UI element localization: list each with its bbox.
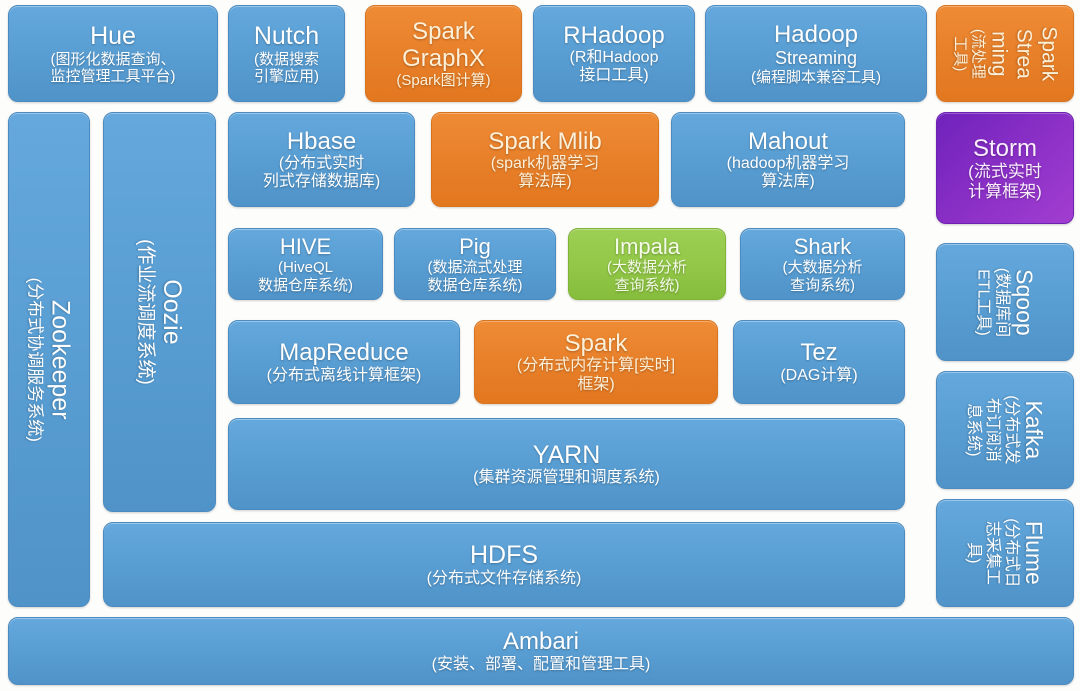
component-title: Spark: [565, 330, 628, 357]
component-desc-line: 监控管理工具平台): [51, 68, 176, 85]
component-desc-line: (流式实时: [968, 162, 1042, 181]
component-title: Mahout: [748, 128, 828, 155]
component-desc-line: (作业流调度系统): [134, 239, 156, 385]
component-desc-line: (流处理: [968, 29, 986, 79]
component-desc-line: (分布式文件存储系统): [427, 570, 582, 588]
component-title: Zookeeper: [44, 300, 74, 420]
component-title: YARN: [533, 441, 601, 470]
component-desc-line: 工具): [950, 36, 968, 71]
component-title: Shark: [794, 234, 851, 259]
component-title: RHadoop: [563, 22, 664, 49]
component-title: Streaming: [775, 48, 857, 69]
component-box-yarn[interactable]: YARN (集群资源管理和调度系统): [228, 418, 905, 510]
component-desc-line: (spark机器学习: [491, 155, 599, 173]
component-box-hdfs[interactable]: HDFS (分布式文件存储系统): [103, 522, 905, 607]
component-title: Spark Mlib: [488, 128, 601, 155]
component-box-kafka[interactable]: Kafka (分布式发 布订阅消 息系统): [936, 371, 1074, 489]
component-desc-line: 引擎应用): [254, 68, 319, 85]
component-box-spark-streaming[interactable]: Spark Strea ming (流处理 工具): [936, 5, 1074, 102]
component-title: HIVE: [280, 234, 331, 259]
component-box-mahout[interactable]: Mahout (hadoop机器学习 算法库): [671, 112, 905, 207]
component-desc-line: 列式存储数据库): [263, 173, 380, 191]
hadoop-ecosystem-diagram: Hue (图形化数据查询、 监控管理工具平台) Nutch (数据搜索 引擎应用…: [0, 0, 1080, 691]
component-title: Kafka: [1020, 401, 1047, 460]
component-desc-line: (分布式日: [1001, 518, 1020, 587]
component-box-spark[interactable]: Spark (分布式内存计算[实时] 框架): [474, 320, 718, 404]
component-desc-line: 查询系统): [790, 277, 855, 294]
component-title: Hadoop: [774, 21, 858, 48]
component-desc-line: (分布式实时: [279, 155, 364, 173]
rotated-label-group: Sqoop (数据库间 ETL工具): [973, 243, 1038, 361]
component-desc-line: (分布式离线计算框架): [267, 367, 422, 385]
component-title: Spark: [1035, 26, 1060, 81]
component-title: GraphX: [402, 45, 485, 72]
component-desc-line: (大数据分析: [607, 259, 687, 276]
component-desc-line: (分布式发: [1001, 395, 1020, 464]
component-title: MapReduce: [279, 339, 408, 366]
component-desc-line: 数据仓库系统): [258, 277, 353, 294]
component-desc-line: (集群资源管理和调度系统): [473, 469, 660, 487]
component-box-ambari[interactable]: Ambari (安装、部署、配置和管理工具): [8, 617, 1074, 685]
component-desc-line: (安装、部署、配置和管理工具): [432, 656, 651, 674]
component-box-tez[interactable]: Tez (DAG计算): [733, 320, 905, 404]
component-title: Hue: [90, 22, 136, 51]
component-title: Hbase: [287, 128, 356, 155]
rotated-label-group: Zookeeper (分布式协调服务系统): [24, 112, 74, 607]
component-desc-line: 接口工具): [579, 67, 648, 85]
component-title: Storm: [973, 135, 1037, 162]
component-desc-line: (分布式内存计算[实时]: [517, 357, 675, 375]
component-desc-line: 具): [963, 542, 982, 563]
component-desc-line: 查询系统): [615, 277, 680, 294]
component-box-zookeeper[interactable]: Zookeeper (分布式协调服务系统): [8, 112, 90, 607]
component-title: ming: [986, 31, 1011, 77]
component-desc-line: (Spark图计算): [396, 72, 490, 89]
rotated-label-group: Kafka (分布式发 布订阅消 息系统): [963, 371, 1047, 489]
component-box-impala[interactable]: Impala (大数据分析 查询系统): [568, 228, 726, 300]
component-desc-line: 息系统): [963, 403, 982, 456]
component-box-mapreduce[interactable]: MapReduce (分布式离线计算框架): [228, 320, 460, 404]
rotated-label-group: Flume (分布式日 志采集工 具): [963, 499, 1047, 607]
component-desc-line: (hadoop机器学习: [727, 155, 850, 173]
component-box-hive[interactable]: HIVE (HiveQL 数据仓库系统): [228, 228, 383, 300]
component-box-nutch[interactable]: Nutch (数据搜索 引擎应用): [228, 5, 345, 102]
component-desc-line: (编程脚本兼容工具): [751, 69, 881, 86]
component-title: Nutch: [254, 22, 319, 51]
component-title: HDFS: [470, 541, 538, 570]
component-box-hue[interactable]: Hue (图形化数据查询、 监控管理工具平台): [8, 5, 218, 102]
component-desc-line: (图形化数据查询、: [51, 51, 176, 68]
component-box-spark-graphx[interactable]: Spark GraphX (Spark图计算): [365, 5, 522, 102]
component-desc-line: 数据仓库系统): [428, 277, 523, 294]
component-title: Strea: [1010, 28, 1035, 78]
component-desc-line: 志采集工: [982, 521, 1001, 585]
component-box-hadoop-streaming[interactable]: Hadoop Streaming (编程脚本兼容工具): [705, 5, 927, 102]
component-title: Impala: [614, 234, 680, 259]
component-box-spark-mlib[interactable]: Spark Mlib (spark机器学习 算法库): [431, 112, 659, 207]
component-box-storm[interactable]: Storm (流式实时 计算框架): [936, 112, 1074, 224]
component-title: Pig: [459, 234, 491, 259]
component-box-shark[interactable]: Shark (大数据分析 查询系统): [740, 228, 905, 300]
component-title: Ambari: [503, 628, 579, 655]
component-title: Spark: [412, 18, 475, 45]
component-desc-line: 算法库): [518, 173, 571, 191]
component-desc-line: 算法库): [761, 173, 814, 191]
component-box-hbase[interactable]: Hbase (分布式实时 列式存储数据库): [228, 112, 415, 207]
rotated-label-group: Spark Strea ming (流处理 工具): [950, 5, 1060, 102]
component-box-sqoop[interactable]: Sqoop (数据库间 ETL工具): [936, 243, 1074, 361]
component-box-oozie[interactable]: Oozie (作业流调度系统): [103, 112, 216, 512]
component-desc-line: (分布式协调服务系统): [24, 277, 44, 441]
component-desc-line: (数据搜索: [254, 51, 319, 68]
component-desc-line: (数据流式处理: [428, 259, 523, 276]
component-desc-line: ETL工具): [973, 269, 992, 336]
component-desc-line: (HiveQL: [278, 259, 333, 276]
component-title: Oozie: [156, 279, 186, 344]
component-desc-line: 布订阅消: [982, 398, 1001, 462]
component-title: Sqoop: [1010, 269, 1037, 336]
component-title: Tez: [800, 339, 837, 366]
component-desc-line: (R和Hadoop: [570, 49, 659, 67]
component-desc-line: 计算框架): [968, 182, 1042, 201]
component-desc-line: 框架): [577, 376, 614, 394]
component-desc-line: (数据库间: [991, 267, 1010, 336]
rotated-label-group: Oozie (作业流调度系统): [134, 112, 186, 512]
component-desc-line: (DAG计算): [780, 367, 857, 385]
component-box-pig[interactable]: Pig (数据流式处理 数据仓库系统): [394, 228, 556, 300]
component-title: Flume: [1020, 521, 1047, 585]
component-box-flume[interactable]: Flume (分布式日 志采集工 具): [936, 499, 1074, 607]
component-box-rhadoop[interactable]: RHadoop (R和Hadoop 接口工具): [533, 5, 695, 102]
component-desc-line: (大数据分析: [783, 259, 863, 276]
